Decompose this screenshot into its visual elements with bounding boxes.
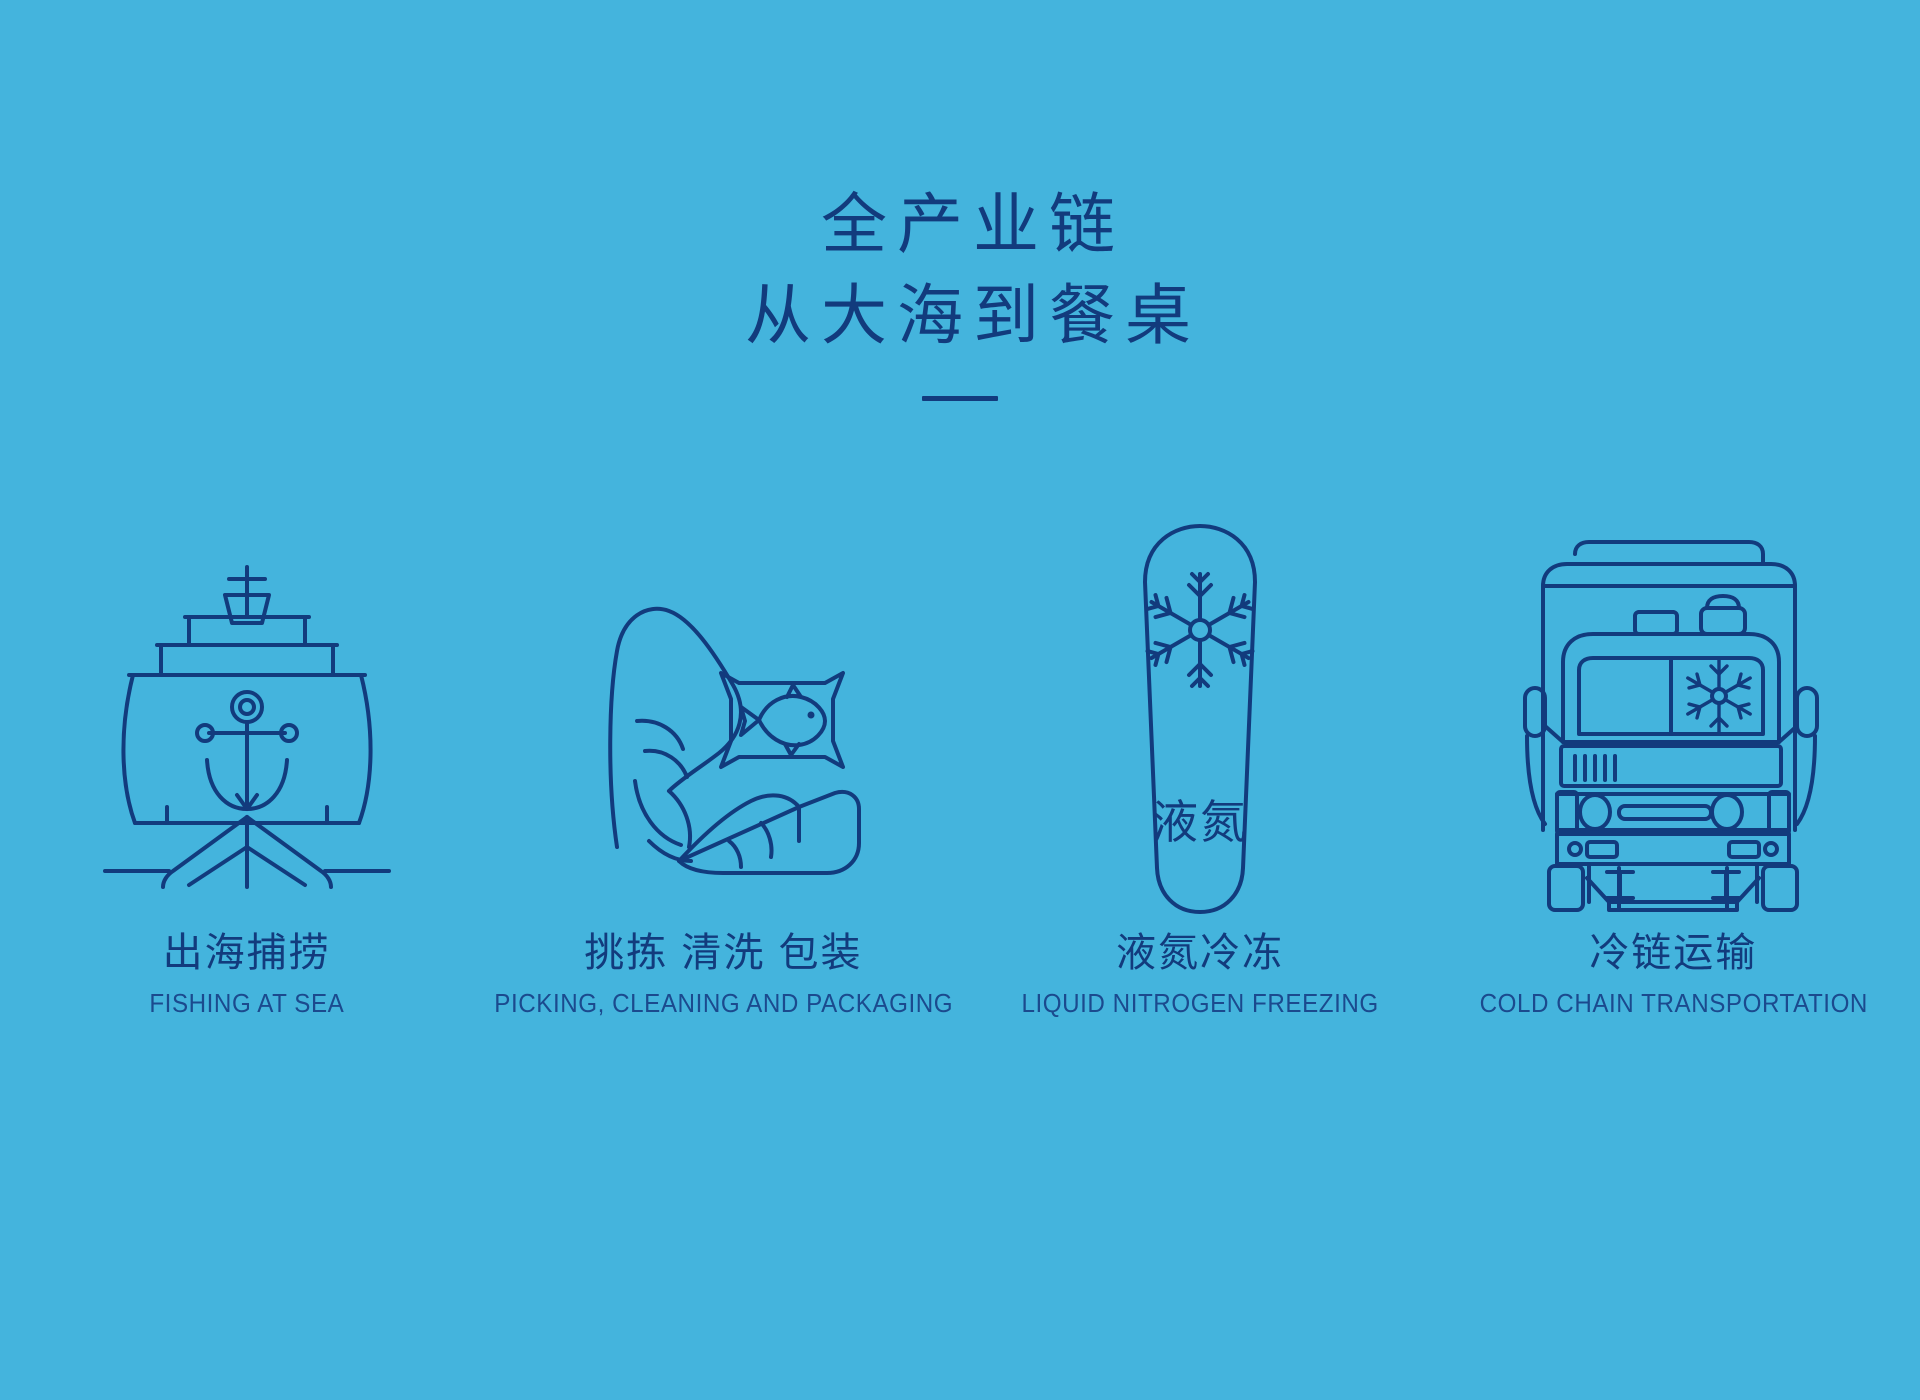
fishing-at-sea-labels: 出海捕捞 FISHING AT SEA [142, 930, 352, 1019]
step-label-en: FISHING AT SEA [149, 988, 344, 1019]
step-label-cn: 液氮冷冻 [1008, 930, 1392, 976]
picking-cleaning-packaging-labels: 挑拣 清洗 包装 PICKING, CLEANING AND PACKAGING [477, 930, 970, 1019]
liquid-nitrogen-freezing-labels: 液氮冷冻 LIQUID NITROGEN FREEZING [1008, 930, 1392, 1019]
fishing-boat-icon [97, 555, 397, 885]
header: 全产业链 从大海到餐桌 [0, 180, 1920, 401]
poster-root: 全产业链 从大海到餐桌 [0, 0, 1920, 1400]
step-label-cn: 冷链运输 [1465, 930, 1883, 976]
cold-chain-transportation-labels: 冷链运输 COLD CHAIN TRANSPORTATION [1465, 930, 1883, 1019]
step-liquid-nitrogen-freezing[interactable]: 液氮 液氮冷冻 LIQUID NITROGEN FREEZING [963, 520, 1436, 1019]
snowflake-icon [1684, 660, 1754, 732]
page-title-line-1: 全产业链 [26, 180, 1920, 271]
step-label-en: COLD CHAIN TRANSPORTATION [1479, 988, 1867, 1019]
step-label-cn: 出海捕捞 [142, 930, 352, 976]
step-fishing-at-sea[interactable]: 出海捕捞 FISHING AT SEA [10, 520, 483, 1019]
fishing-boat-icon-box [97, 520, 397, 920]
hands-fish-package-icon-box [573, 520, 873, 920]
step-label-en: PICKING, CLEANING AND PACKAGING [494, 988, 953, 1019]
process-steps: 出海捕捞 FISHING AT SEA [0, 520, 1920, 1019]
step-cold-chain-transportation[interactable]: 冷链运输 COLD CHAIN TRANSPORTATION [1437, 520, 1910, 1019]
tank-label-text: 液氮 [1152, 796, 1248, 848]
title-divider [922, 396, 998, 401]
step-picking-cleaning-packaging[interactable]: 挑拣 清洗 包装 PICKING, CLEANING AND PACKAGING [483, 520, 963, 1019]
step-label-en: LIQUID NITROGEN FREEZING [1021, 988, 1378, 1019]
hands-fish-package-icon [573, 555, 873, 885]
title-divider-wrap [0, 396, 1920, 401]
step-label-cn: 挑拣 清洗 包装 [477, 930, 970, 976]
refrigerated-truck-icon [1523, 530, 1823, 910]
liquid-nitrogen-tank-icon-box: 液氮 [1115, 520, 1285, 920]
page-title-line-2: 从大海到餐桌 [26, 271, 1920, 362]
liquid-nitrogen-tank-icon: 液氮 [1115, 520, 1285, 920]
snowflake-icon [1146, 574, 1254, 686]
refrigerated-truck-icon-box [1523, 520, 1823, 920]
